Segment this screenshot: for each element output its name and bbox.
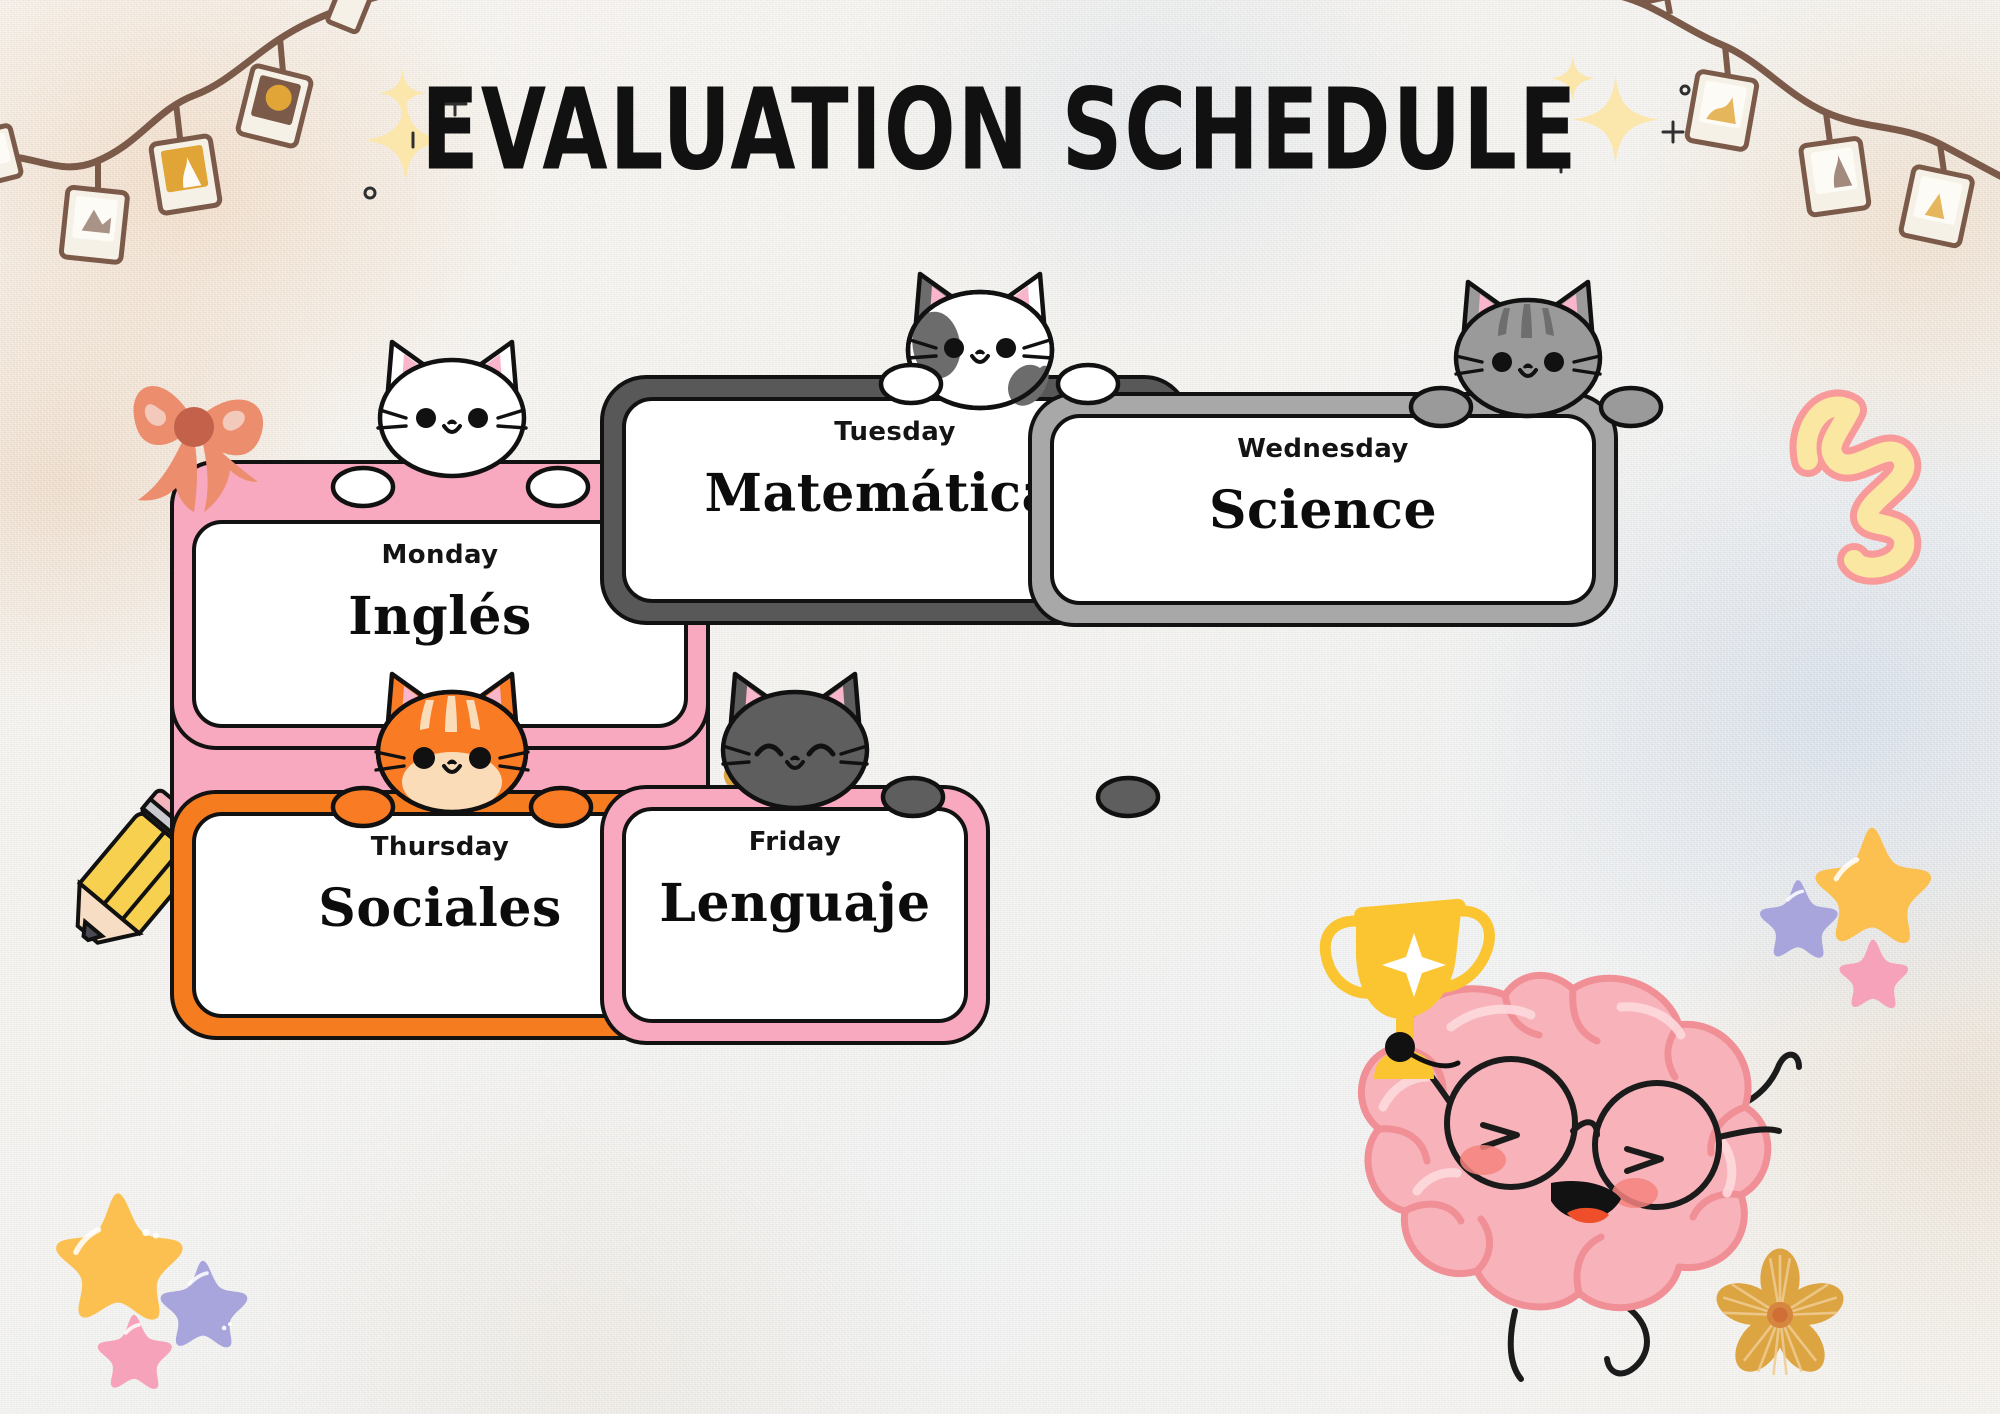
gray-tabby-paw-right [1598, 385, 1664, 434]
subject-wednesday: Science [1209, 480, 1437, 541]
calico-cat-paw-right [1055, 362, 1121, 411]
day-label-monday: Monday [382, 540, 499, 570]
page-title: EVALUATION SCHEDULE [421, 64, 1578, 196]
white-cat-paw-right [525, 465, 591, 514]
squiggle-icon [1780, 390, 1960, 610]
orange-tabby-paw-right [528, 785, 594, 834]
gray-tabby-paw-left [1408, 385, 1474, 434]
day-label-wednesday: Wednesday [1237, 434, 1409, 464]
day-label-thursday: Thursday [371, 832, 510, 862]
subject-monday: Inglés [348, 586, 532, 647]
star-pink-right-icon [1835, 935, 1911, 1011]
card-inner-friday: Friday Lenguaje [622, 807, 968, 1023]
calico-cat-paw-left [878, 362, 944, 411]
white-cat-paw-left [330, 465, 396, 514]
trophy-icon [1310, 895, 1500, 1095]
subject-friday: Lenguaje [659, 873, 930, 934]
card-inner-wednesday: Wednesday Science [1050, 414, 1596, 605]
subject-thursday: Sociales [318, 878, 561, 939]
day-label-friday: Friday [749, 827, 842, 857]
star-pink-icon [93, 1310, 175, 1392]
dark-gray-cat-icon [705, 662, 885, 822]
dark-gray-cat-paw-rightside [880, 775, 946, 824]
dark-gray-cat-paw-left [1095, 775, 1161, 824]
schedule-card-friday[interactable]: Friday Lenguaje [600, 785, 990, 1045]
bow-icon [118, 350, 318, 530]
star-lavender-right-icon [1755, 875, 1841, 961]
page-title-wrap: EVALUATION SCHEDULE [0, 78, 2000, 181]
poster-canvas: EVALUATION SCHEDULE [0, 0, 2000, 1414]
orange-tabby-paw-left [330, 785, 396, 834]
